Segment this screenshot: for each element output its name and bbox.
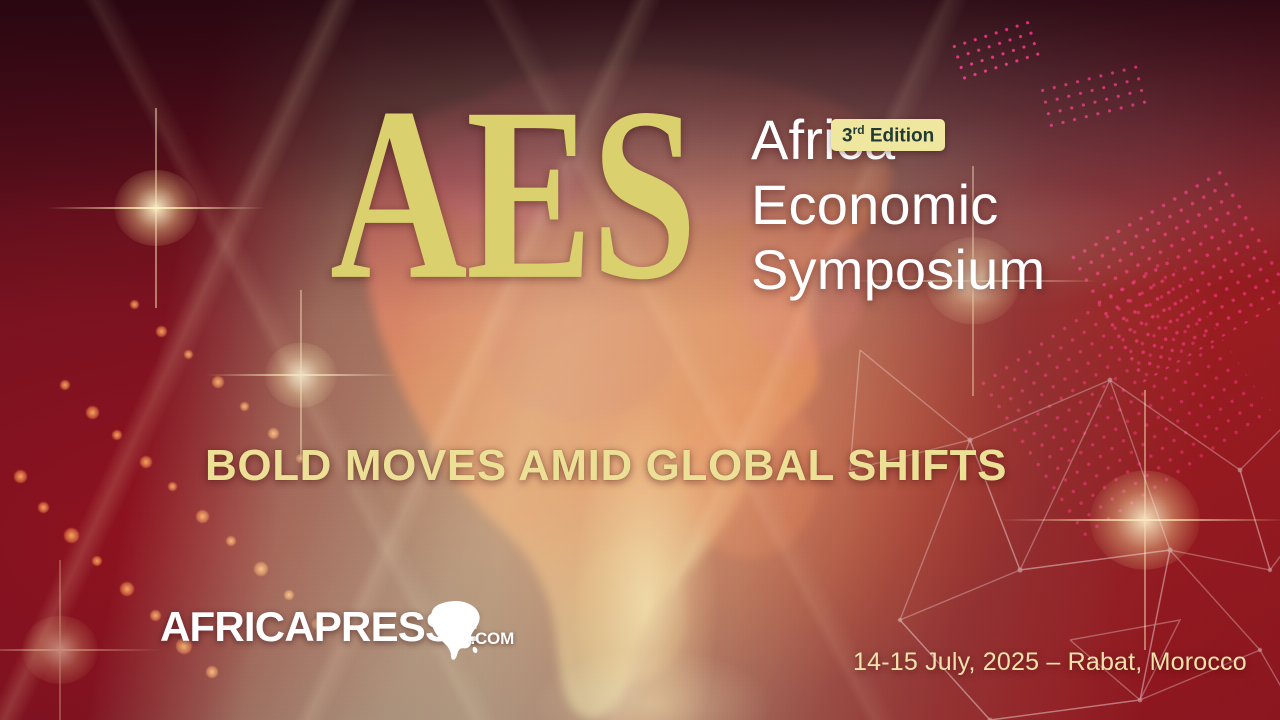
- edition-badge: 3rd Edition: [831, 119, 945, 151]
- edition-ordinal: 3: [842, 125, 853, 146]
- africapresse-logo[interactable]: AFRICAPRESSE .COM: [160, 606, 514, 648]
- edition-suffix: rd: [853, 123, 865, 137]
- wordmark-line-2: Economic: [751, 173, 1045, 238]
- edition-word: Edition: [870, 125, 934, 146]
- publisher-tld: .COM: [470, 630, 514, 647]
- poster-content: AES Africa Economic Symposium 3rd Editio…: [0, 0, 1280, 720]
- aes-acronym: AES: [330, 98, 696, 291]
- event-date-venue: 14-15 July, 2025 – Rabat, Morocco: [853, 648, 1247, 677]
- wordmark-line-3: Symposium: [751, 238, 1045, 303]
- aes-event-poster: AES Africa Economic Symposium 3rd Editio…: [0, 0, 1280, 720]
- event-tagline: BOLD MOVES AMID GLOBAL SHIFTS: [205, 441, 1007, 491]
